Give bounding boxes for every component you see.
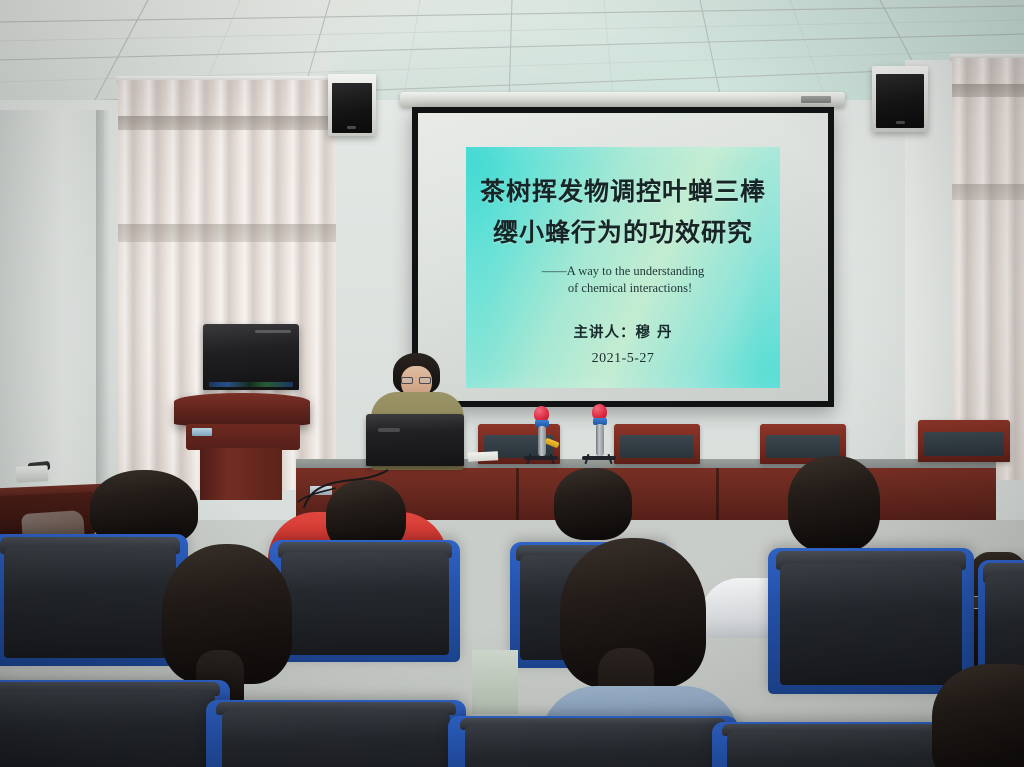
audience-chair-front[interactable] [448, 716, 738, 767]
curtain-band [952, 84, 1024, 97]
table-panel-seam [516, 468, 519, 520]
audience-chair[interactable] [768, 548, 974, 694]
curtain-band [118, 224, 336, 242]
audience-chair-panel [281, 552, 448, 654]
audience-chair-panel [4, 547, 176, 658]
lecture-hall-photo: 茶树挥发物调控叶蝉三棒 缨小蜂行为的功效研究 ——A way to the un… [0, 0, 1024, 767]
slide-presenter: 主讲人：穆 丹 [466, 321, 780, 342]
table-paper [468, 451, 498, 462]
monitor-port-strip [209, 382, 293, 387]
glasses-lens [401, 377, 413, 384]
audience-chair-panel [0, 691, 215, 767]
speaker-indicator-icon [347, 126, 356, 129]
projector-screen-housing [400, 92, 845, 107]
audience-chair-panel [780, 563, 961, 686]
monitor-gloss [255, 330, 291, 333]
curtain-right [952, 58, 1024, 480]
slide-date: 2021-5-27 [466, 351, 780, 367]
audience-chair[interactable] [0, 534, 188, 666]
audience-head [554, 468, 632, 540]
stage-chair [918, 420, 1010, 462]
speaker-indicator-icon [896, 121, 905, 124]
screen-housing-plate [801, 96, 831, 103]
wall-speaker-left-housing [328, 74, 376, 136]
podium-body [200, 448, 282, 500]
wall-speaker-right-face [876, 74, 924, 128]
stage-chair [614, 424, 700, 464]
microphone-body [596, 424, 604, 456]
stage-chair-pad [766, 435, 840, 458]
audience-chair-front[interactable] [206, 700, 466, 767]
audience-chair[interactable] [270, 540, 460, 662]
audience-chair-front[interactable] [0, 680, 230, 767]
stage-chair-pad [924, 432, 1003, 456]
podium-label-plate [192, 428, 212, 436]
podium-top [174, 393, 310, 427]
slide-title-line2: 缨小蜂行为的功效研究 [466, 212, 780, 253]
wall-speaker-left-face [332, 83, 372, 133]
audience-chair-panel [465, 725, 720, 767]
slide-subtitle-line2: of chemical interactions! [466, 280, 780, 297]
laptop-logo [378, 428, 400, 432]
presenter-glasses-icon [401, 377, 432, 384]
curtain-band [118, 116, 336, 130]
stage-chair-pad [620, 435, 694, 458]
audience-head [788, 456, 880, 552]
glasses-lens [419, 377, 431, 384]
slide-subtitle-line1: ——A way to the understanding [466, 263, 780, 280]
projected-slide: 茶树挥发物调控叶蝉三棒 缨小蜂行为的功效研究 ——A way to the un… [466, 147, 780, 388]
slide-title-line1: 茶树挥发物调控叶蝉三棒 [466, 171, 780, 212]
wall-speaker-right-housing [872, 66, 928, 132]
audience-chair-front[interactable] [712, 722, 962, 767]
wall-left-column [0, 110, 104, 510]
seat-side-panel [472, 650, 518, 714]
audience-chair-panel [222, 710, 451, 767]
curtain-band [952, 184, 1024, 200]
audience-chair-panel [727, 731, 947, 767]
table-panel-seam [716, 468, 719, 520]
podium-monitor [203, 324, 299, 390]
wall-corner-shadow [96, 110, 110, 510]
desk-telephone [16, 465, 49, 483]
